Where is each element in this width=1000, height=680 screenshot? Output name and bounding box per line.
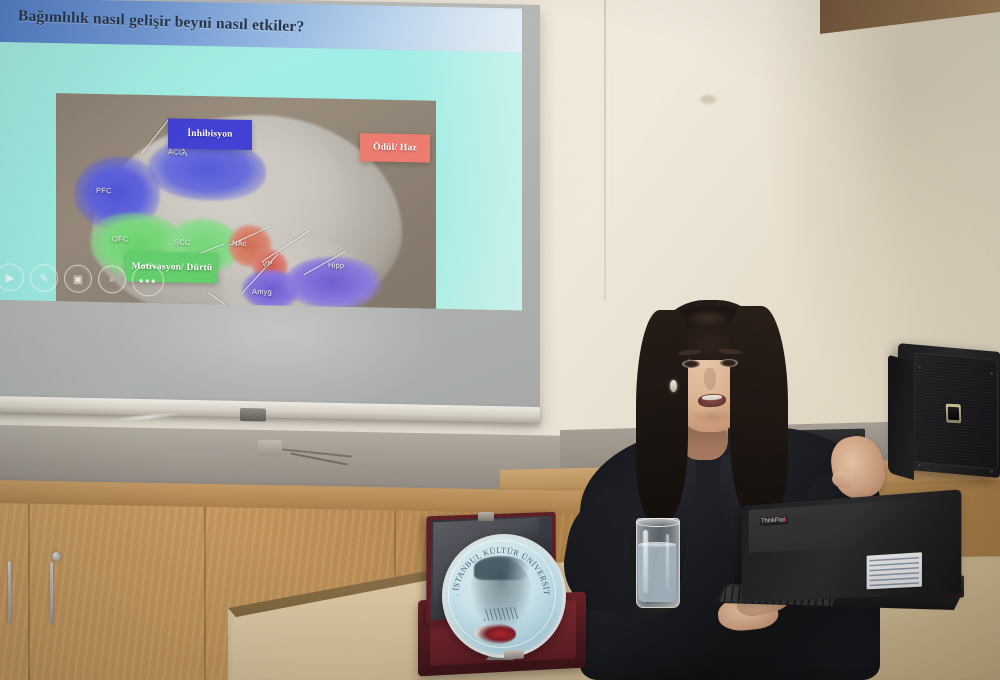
wall-panel-seam [604,0,606,300]
thinkpad-logo-dot [783,518,786,521]
plate-inscription: T.C. İSTANBUL KÜLTÜR ÜNİVERSİTESİ [442,534,560,652]
glass-highlight-secondary [666,534,669,590]
hair-left-side [636,310,688,520]
plaque-clasp [504,649,524,659]
label-amyg: Amyg [252,287,272,296]
label-acg: ACG [168,147,185,156]
eye-right [720,359,738,367]
label-ofc: OFC [112,234,128,243]
nose [704,368,716,390]
slides-icon[interactable]: ▣ [64,264,92,293]
label-nac: NAc [232,239,247,248]
play-icon[interactable]: ▶ [0,263,24,292]
commemorative-plaque: T.C. İSTANBUL KÜLTÜR ÜNİVERSİTESİ [412,512,588,674]
speaker-person [560,296,900,680]
plaque-hinge [478,512,494,521]
eye-left [682,360,700,368]
cabinet-lock[interactable] [52,552,61,561]
ellipsis-icon[interactable]: ••• [132,264,164,297]
thinkpad-logo-text: ThinkPad [760,517,785,524]
label-scc: SCC [174,237,190,246]
magnifier-icon[interactable]: ⌕ [98,265,126,294]
pa-speaker-badge-inner [948,407,959,421]
laptop[interactable]: ThinkPad [714,498,980,616]
glass-highlight [643,530,648,594]
earring [670,380,677,392]
pa-screw [918,464,921,467]
wall-socket [258,440,282,456]
wall-panel-seam-highlight [612,0,613,300]
screen-bar-clip [240,408,266,422]
presenter-toolbar[interactable]: ▶ ✎ ▣ ⌕ [0,259,154,302]
hair-right-side [730,306,788,520]
label-pfc: PFC [96,186,112,195]
callout-odul-haz: Ödül/ Haz [360,133,430,162]
projection-screen: Bağımlılık nasıl gelişir beyni nasıl etk… [0,0,548,432]
pa-screw [990,372,993,375]
water-glass [636,518,678,606]
laptop-sticker-text [870,555,919,586]
label-hipp: Hipp [328,261,344,270]
photo-scene: Bağımlılık nasıl gelişir beyni nasıl etk… [0,0,1000,680]
wall-smudge [700,95,716,104]
callout-inhibisyon: İnhibisyon [168,118,252,150]
label-vp: VP [262,259,272,268]
pa-screw [918,366,921,369]
thinkpad-logo: ThinkPad [760,515,788,526]
pen-icon[interactable]: ✎ [30,264,58,293]
laptop-sticker [867,552,922,589]
pa-speaker [888,352,1000,482]
glass-rim [636,518,680,527]
hair-part [688,310,728,326]
pa-screw [990,470,993,473]
chin-shadow [692,410,732,424]
svg-text:T.C. İSTANBUL KÜLTÜR ÜNİVERSİT: T.C. İSTANBUL KÜLTÜR ÜNİVERSİTESİ [442,534,551,596]
